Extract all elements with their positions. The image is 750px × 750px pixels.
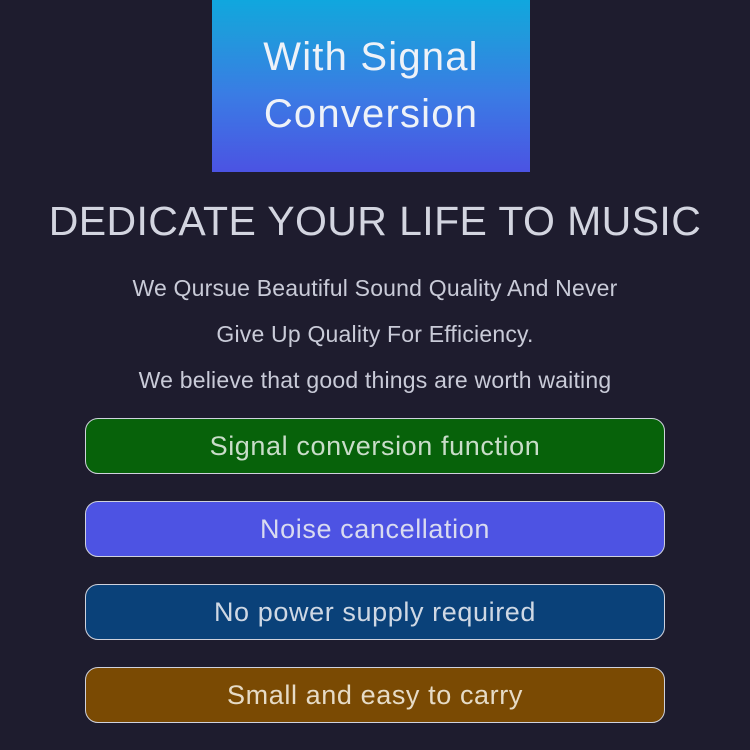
signal-conversion-banner: With Signal Conversion [212, 0, 530, 172]
feature-label: No power supply required [214, 599, 536, 626]
feature-label: Signal conversion function [210, 433, 541, 460]
tagline-line-2: Give Up Quality For Efficiency. [0, 311, 750, 357]
feature-item-small-and-easy-to-carry[interactable]: Small and easy to carry [85, 667, 665, 723]
product-feature-page: With Signal Conversion DEDICATE YOUR LIF… [0, 0, 750, 750]
feature-item-no-power-supply[interactable]: No power supply required [85, 584, 665, 640]
tagline-line-3: We believe that good things are worth wa… [0, 357, 750, 403]
tagline-line-1: We Qursue Beautiful Sound Quality And Ne… [0, 265, 750, 311]
feature-item-noise-cancellation[interactable]: Noise cancellation [85, 501, 665, 557]
feature-item-signal-conversion[interactable]: Signal conversion function [85, 418, 665, 474]
banner-title-line-1: With Signal [263, 29, 479, 86]
feature-label: Small and easy to carry [227, 682, 523, 709]
banner-title-line-2: Conversion [264, 86, 478, 143]
feature-label: Noise cancellation [260, 516, 490, 543]
page-headline: DEDICATE YOUR LIFE TO MUSIC [0, 198, 750, 245]
feature-list: Signal conversion function Noise cancell… [85, 418, 665, 723]
tagline-paragraph: We Qursue Beautiful Sound Quality And Ne… [0, 265, 750, 403]
